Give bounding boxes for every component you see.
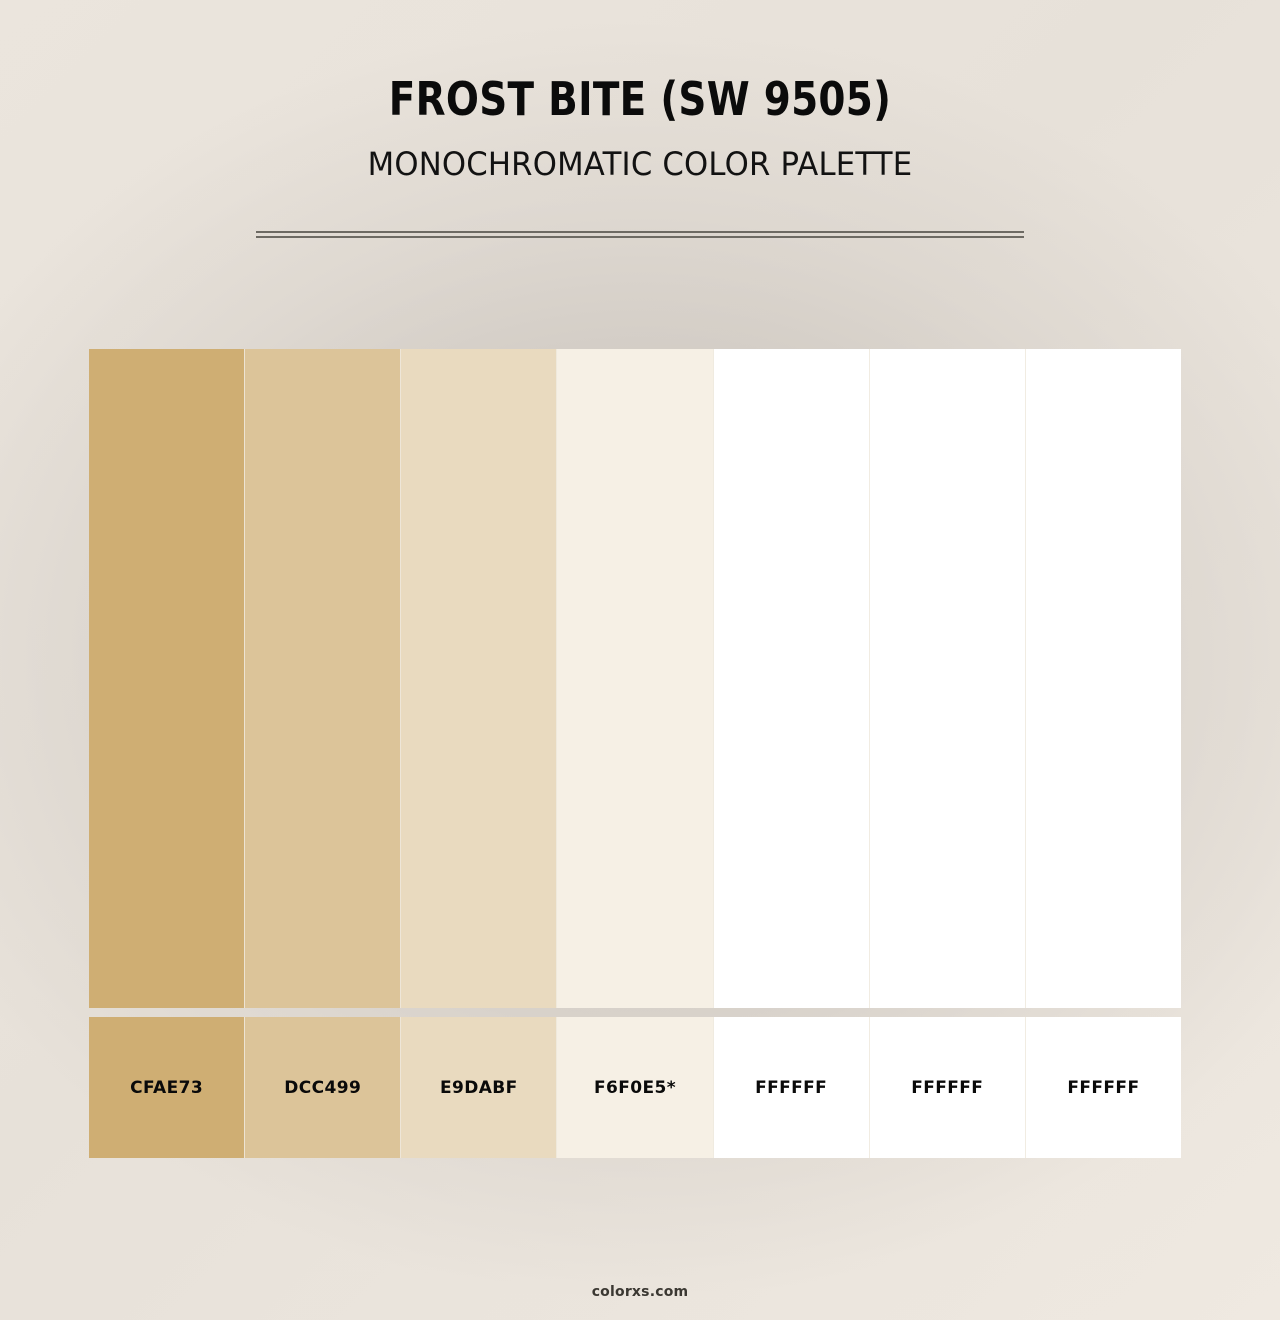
swatch-block-1[interactable] (89, 349, 245, 1008)
swatch-label-cell-6[interactable]: FFFFFF (870, 1017, 1026, 1158)
swatch-hex-label: FFFFFF (755, 1078, 827, 1098)
swatch-label-cell-2[interactable]: DCC499 (245, 1017, 401, 1158)
divider-line-top (256, 231, 1024, 233)
color-palette: CFAE73 DCC499 E9DABF F6F0E5* FFFFFF FFFF… (89, 349, 1181, 1158)
swatch-block-2[interactable] (245, 349, 401, 1008)
swatch-block-4[interactable] (557, 349, 713, 1008)
site-credit: colorxs.com (592, 1284, 689, 1300)
page-subtitle: MONOCHROMATIC COLOR PALETTE (26, 124, 1255, 182)
label-row: CFAE73 DCC499 E9DABF F6F0E5* FFFFFF FFFF… (89, 1017, 1181, 1158)
swatch-block-6[interactable] (870, 349, 1026, 1008)
swatch-hex-label: DCC499 (284, 1078, 361, 1098)
swatch-hex-label: FFFFFF (1067, 1078, 1139, 1098)
swatch-row (89, 349, 1181, 1008)
swatch-block-3[interactable] (401, 349, 557, 1008)
divider-line-bottom (256, 236, 1024, 238)
header-divider (256, 231, 1024, 238)
swatch-hex-label: CFAE73 (130, 1078, 203, 1098)
page-footer: colorxs.com (0, 1283, 1280, 1301)
swatch-label-cell-4[interactable]: F6F0E5* (557, 1017, 713, 1158)
palette-page: FROST BITE (SW 9505) MONOCHROMATIC COLOR… (0, 0, 1280, 1320)
swatch-block-5[interactable] (714, 349, 870, 1008)
page-header: FROST BITE (SW 9505) MONOCHROMATIC COLOR… (0, 0, 1280, 181)
swatch-label-cell-5[interactable]: FFFFFF (714, 1017, 870, 1158)
swatch-block-7[interactable] (1026, 349, 1181, 1008)
swatch-hex-label: F6F0E5* (594, 1078, 676, 1098)
page-title: FROST BITE (SW 9505) (38, 0, 1241, 124)
swatch-label-cell-3[interactable]: E9DABF (401, 1017, 557, 1158)
swatch-hex-label: FFFFFF (911, 1078, 983, 1098)
swatch-hex-label: E9DABF (440, 1078, 518, 1098)
swatch-label-cell-1[interactable]: CFAE73 (89, 1017, 245, 1158)
swatch-label-cell-7[interactable]: FFFFFF (1026, 1017, 1181, 1158)
swatch-label-separator (89, 1008, 1181, 1017)
